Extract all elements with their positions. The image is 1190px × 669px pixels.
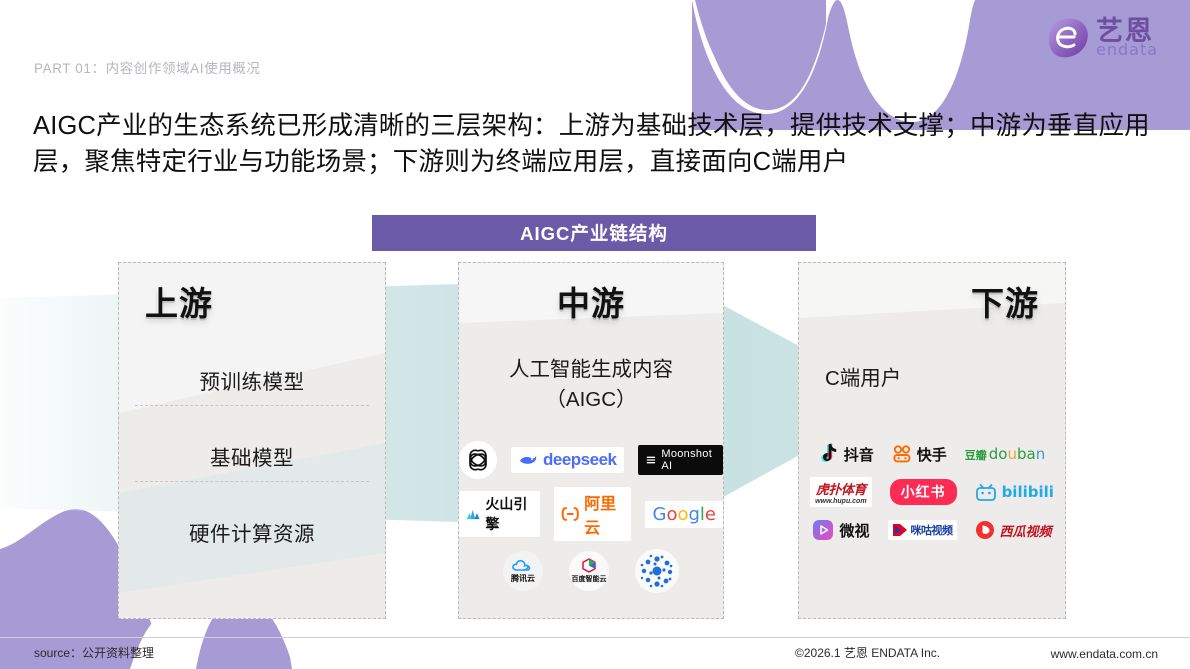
footer-website: www.endata.com.cn (1051, 647, 1158, 661)
logo-douban[interactable]: 豆瓣 douban (965, 445, 1045, 463)
upstream-item-2: 硬件计算资源 (119, 517, 385, 547)
hupu-url: www.hupu.com (815, 498, 866, 505)
tencent-cloud-icon (512, 559, 534, 572)
upstream-divider-1 (135, 481, 369, 482)
hupu-label: 虎扑体育 (816, 479, 866, 498)
ai-network-icon (637, 551, 677, 591)
moonshot-label: Moonshot AI (661, 448, 716, 472)
brand-name-en: endata (1096, 42, 1158, 58)
logo-deepseek[interactable]: deepseek (511, 447, 624, 473)
upstream-divider-0 (135, 405, 369, 406)
midstream-logo-grid: deepseek Moonshot AI (459, 441, 723, 593)
kuaishou-icon (892, 445, 912, 463)
deepseek-whale-icon (518, 452, 538, 468)
weishi-play-icon (812, 519, 834, 541)
openai-icon (465, 447, 491, 473)
downstream-logo-grid: 抖音 快手 (799, 443, 1065, 541)
logo-kuaishou[interactable]: 快手 (892, 444, 947, 465)
weishi-label: 微视 (839, 520, 869, 541)
logo-douyin[interactable]: 抖音 (819, 443, 874, 465)
aliyun-label: 阿里云 (584, 490, 624, 538)
baidu-cloud-label: 百度智能云 (572, 574, 607, 584)
baidu-cloud-icon (582, 558, 596, 573)
logo-row: 微视 咪咕视频 (812, 519, 1051, 541)
douyin-note-icon (819, 443, 839, 465)
tencent-cloud-label: 腾讯云 (511, 573, 535, 584)
volcano-engine-icon (466, 507, 480, 522)
logo-google[interactable]: Google (645, 501, 723, 528)
page-title: AIGC产业的生态系统已形成清晰的三层架构：上游为基础技术层，提供技术支撑；中游… (33, 108, 1158, 180)
logo-tencent-cloud[interactable]: 腾讯云 (503, 551, 543, 591)
moonshot-icon (645, 453, 657, 467)
column-upstream: 上游 预训练模型 基础模型 硬件计算资源 (118, 262, 386, 619)
upstream-item-1: 基础模型 (119, 441, 385, 471)
logo-aliyun[interactable]: 阿里云 (554, 487, 632, 541)
deepseek-label: deepseek (543, 450, 617, 470)
migu-mark-icon (892, 523, 908, 537)
column-heading-upstream: 上游 (145, 277, 213, 325)
logo-row: deepseek Moonshot AI (459, 441, 723, 479)
column-midstream: 中游 人工智能生成内容 （AIGC） (458, 262, 724, 619)
aliyun-icon (561, 505, 580, 523)
logo-xigua-video[interactable]: 西瓜视频 (975, 520, 1052, 540)
midstream-title-line1: 人工智能生成内容 (459, 355, 723, 385)
upstream-item-0: 预训练模型 (119, 365, 385, 395)
midstream-title-line2: （AIGC） (459, 385, 723, 415)
xigua-label: 西瓜视频 (1000, 521, 1052, 540)
column-downstream: 下游 C端用户 抖音 (798, 262, 1066, 619)
bilibili-tv-icon (975, 483, 997, 502)
logo-row: 火山引擎 阿里云 (459, 487, 723, 541)
google-wordmark: Google (652, 504, 716, 525)
footer-copyright: ©2026.1 艺恩 ENDATA Inc. (795, 644, 940, 661)
logo-hupu[interactable]: 虎扑体育 www.hupu.com (810, 477, 871, 507)
column-heading-downstream: 下游 (971, 277, 1039, 325)
logo-xiaohongshu[interactable]: 小红书 (890, 479, 957, 505)
logo-volcano-engine[interactable]: 火山引擎 (459, 491, 540, 537)
footer-divider (0, 637, 1190, 638)
xigua-play-icon (975, 520, 995, 540)
volcano-engine-label: 火山引擎 (485, 494, 532, 534)
migu-label: 咪咕视频 (911, 522, 953, 538)
douyin-label: 抖音 (844, 444, 874, 465)
footer-source: source：公开资料整理 (34, 644, 154, 661)
kuaishou-label: 快手 (917, 444, 947, 465)
logo-moonshot-ai[interactable]: Moonshot AI (638, 445, 724, 475)
brand-logo: 艺恩 endata (1044, 12, 1172, 64)
chart-banner-label: AIGC产业链结构 (520, 220, 668, 246)
logo-row: 抖音 快手 (819, 443, 1046, 465)
xiaohongshu-label: 小红书 (890, 479, 957, 505)
endata-e-icon (1044, 17, 1090, 59)
bilibili-wordmark: bilibili (1002, 483, 1054, 501)
logo-migu-video[interactable]: 咪咕视频 (888, 520, 957, 540)
section-eyebrow: PART 01：内容创作领域AI使用概况 (34, 57, 261, 77)
slide-root: 艺恩 endata PART 01：内容创作领域AI使用概况 AIGC产业的生态… (0, 0, 1190, 669)
logo-weishi[interactable]: 微视 (812, 519, 869, 541)
logo-ai-network[interactable] (635, 549, 679, 593)
logo-row: 腾讯云 百度智能云 (503, 549, 679, 593)
downstream-title: C端用户 (825, 361, 901, 391)
douban-wordmark: douban (989, 445, 1045, 463)
column-heading-midstream: 中游 (459, 277, 723, 325)
chart-banner: AIGC产业链结构 (372, 215, 816, 251)
logo-row: 虎扑体育 www.hupu.com 小红书 (810, 477, 1054, 507)
logo-baidu-ai-cloud[interactable]: 百度智能云 (569, 551, 609, 591)
logo-bilibili[interactable]: bilibili (975, 483, 1054, 502)
logo-openai[interactable] (459, 441, 497, 479)
douban-label-cn: 豆瓣 (965, 447, 987, 463)
